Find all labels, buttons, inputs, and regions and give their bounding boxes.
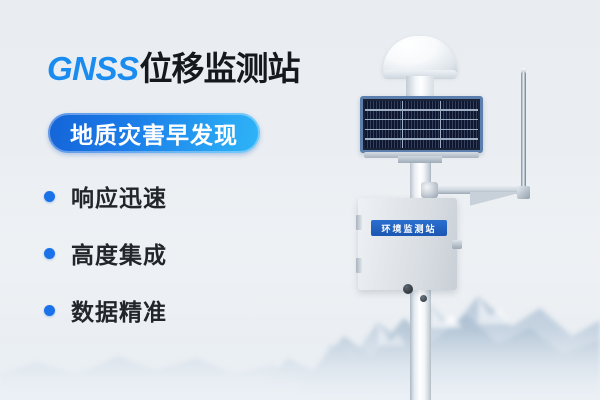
solar-cell (365, 101, 402, 109)
solar-cell (403, 101, 440, 109)
cabinet-hinge-bottom (356, 258, 362, 273)
whip-antenna (521, 72, 526, 194)
status-badge: 地质灾害早发现 (48, 113, 260, 153)
list-item: 响应迅速 (44, 182, 167, 210)
solar-cell (403, 120, 440, 128)
cabinet-knob (403, 284, 413, 294)
page-title: GNSS位移监测站 (47, 52, 300, 85)
bullet-dot-icon (44, 305, 55, 316)
list-item-label: 数据精准 (71, 293, 167, 327)
solar-cell (441, 120, 478, 128)
solar-cell-grid (365, 101, 478, 148)
feature-list: 响应迅速 高度集成 数据精准 (44, 182, 167, 353)
bullet-dot-icon (44, 191, 55, 202)
solar-cell (441, 101, 478, 109)
title-gnss: GNSS (47, 50, 139, 87)
dome-neck (406, 76, 434, 98)
cabinet-label-plate: 环境监测站 (371, 220, 447, 236)
solar-panel (360, 96, 483, 153)
banner-stage: 环境监测站 GNSS位移监测站 地质灾害早发现 响应迅速 高度集成 数据精准 (0, 0, 600, 400)
pole-bolt (420, 295, 427, 302)
solar-cell (403, 130, 440, 138)
cross-arm-hub (421, 182, 438, 198)
list-item-label: 高度集成 (71, 236, 167, 270)
solar-cell (365, 120, 402, 128)
cross-arm-brace (470, 192, 524, 206)
solar-cell (365, 140, 402, 148)
solar-cell (441, 140, 478, 148)
bullet-dot-icon (44, 248, 55, 259)
solar-cell (403, 140, 440, 148)
cabinet-hinge-top (356, 215, 362, 230)
solar-cell (403, 111, 440, 119)
solar-cell (441, 111, 478, 119)
solar-cell (365, 111, 402, 119)
solar-panel-bracket (398, 156, 442, 163)
solar-cell (365, 130, 402, 138)
cabinet-latch (452, 240, 462, 249)
solar-cell (441, 130, 478, 138)
copy-block: GNSS位移监测站 地质灾害早发现 响应迅速 高度集成 数据精准 (0, 0, 330, 400)
title-main: 位移监测站 (140, 49, 300, 88)
equipment-cabinet (358, 198, 457, 290)
list-item: 数据精准 (44, 296, 167, 324)
list-item: 高度集成 (44, 239, 167, 267)
list-item-label: 响应迅速 (71, 179, 167, 213)
whip-antenna-base (517, 186, 530, 199)
